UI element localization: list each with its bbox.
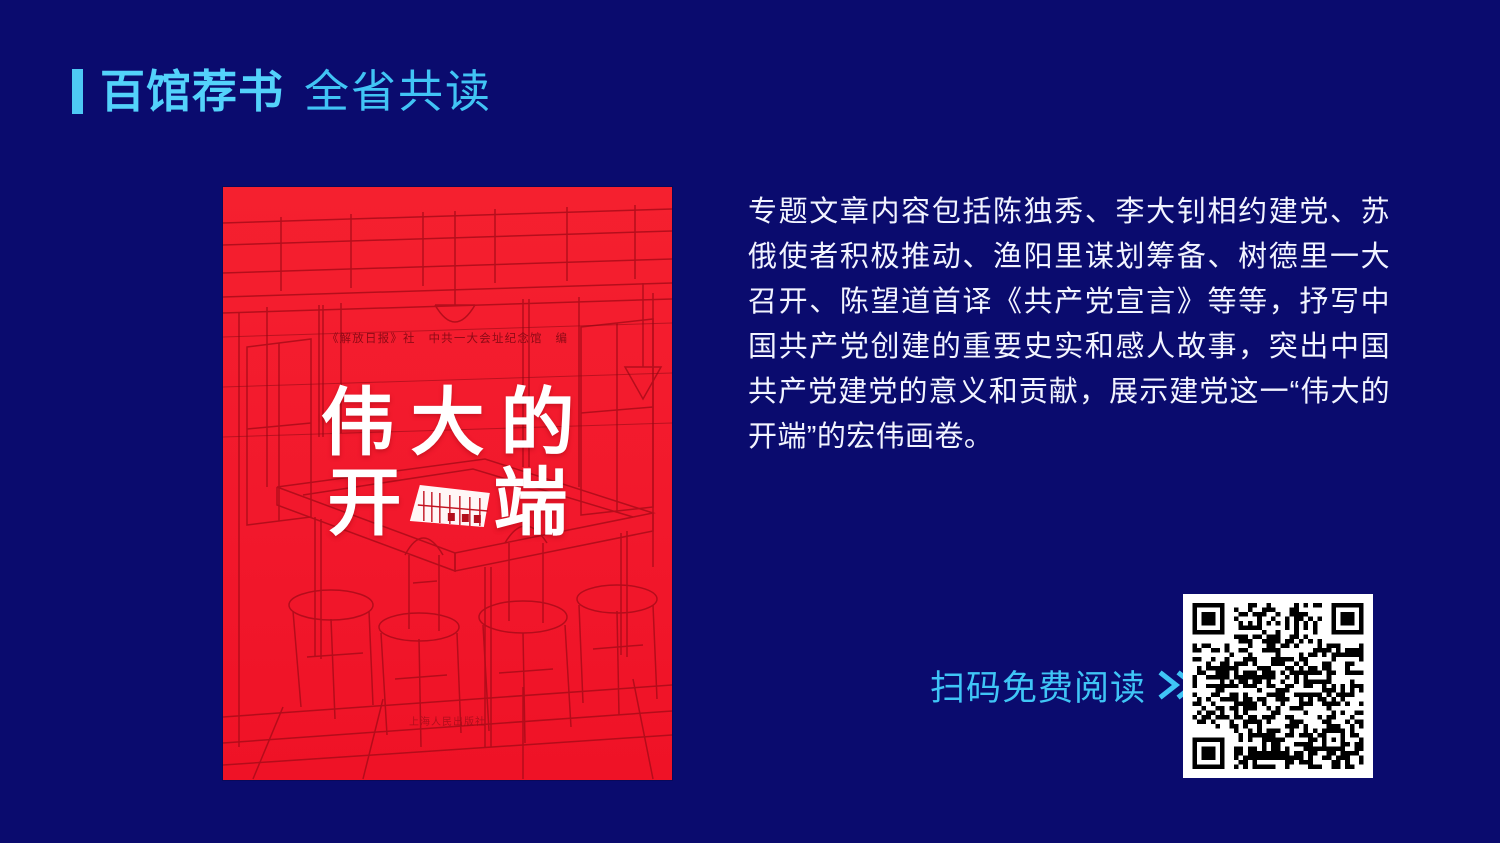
cover-title-line-1: 伟大的 <box>223 383 672 463</box>
page-title: 百馆荐书 全省共读 <box>72 62 492 120</box>
book-cover[interactable]: 《解放日报》社 中共一大会址纪念馆 编 伟大的 开端 <box>223 187 672 780</box>
cover-credit-line: 《解放日报》社 中共一大会址纪念馆 编 <box>223 330 672 346</box>
cover-publisher-mark: 上海人民出版社 <box>223 713 672 728</box>
qr-code[interactable] <box>1183 594 1373 778</box>
description-text: 专题文章内容包括陈独秀、李大钊相约建党、苏俄使者积极推动、渔阳里谋划筹备、树德里… <box>748 190 1390 460</box>
header-title-main: 百馆荐书 <box>100 69 284 114</box>
header-title-sub: 全省共读 <box>304 69 492 114</box>
shikumen-gate-icon <box>403 471 495 529</box>
accent-bar-icon <box>72 69 83 114</box>
qr-code-canvas <box>1183 594 1373 778</box>
poster-slide: 百馆荐书 全省共读 <box>0 0 1500 843</box>
cta-label: 扫码免费阅读 <box>930 660 1146 711</box>
scan-cta: 扫码免费阅读 <box>930 660 1218 710</box>
